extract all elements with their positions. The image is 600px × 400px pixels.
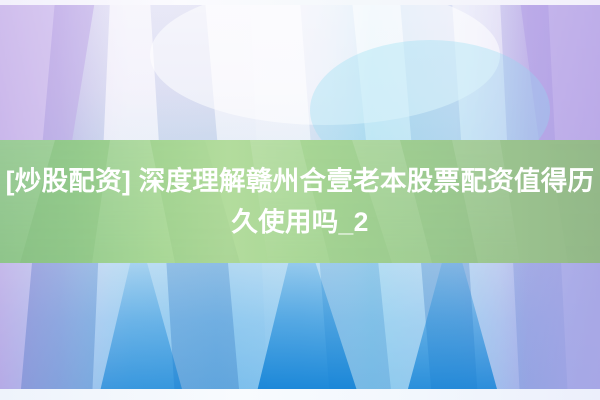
title-line-1: [炒股配资] 深度理解赣州合壹老本股票配资值得历 bbox=[0, 161, 600, 202]
title-line-2: 久使用吗_2 bbox=[0, 202, 600, 243]
title-band: [炒股配资] 深度理解赣州合壹老本股票配资值得历 久使用吗_2 bbox=[0, 140, 600, 263]
title-text-block: [炒股配资] 深度理解赣州合壹老本股票配资值得历 久使用吗_2 bbox=[0, 161, 600, 243]
banner-image: [炒股配资] 深度理解赣州合壹老本股票配资值得历 久使用吗_2 bbox=[0, 0, 600, 400]
top-edge-strip bbox=[0, 0, 600, 5]
watermark bbox=[282, 378, 316, 391]
